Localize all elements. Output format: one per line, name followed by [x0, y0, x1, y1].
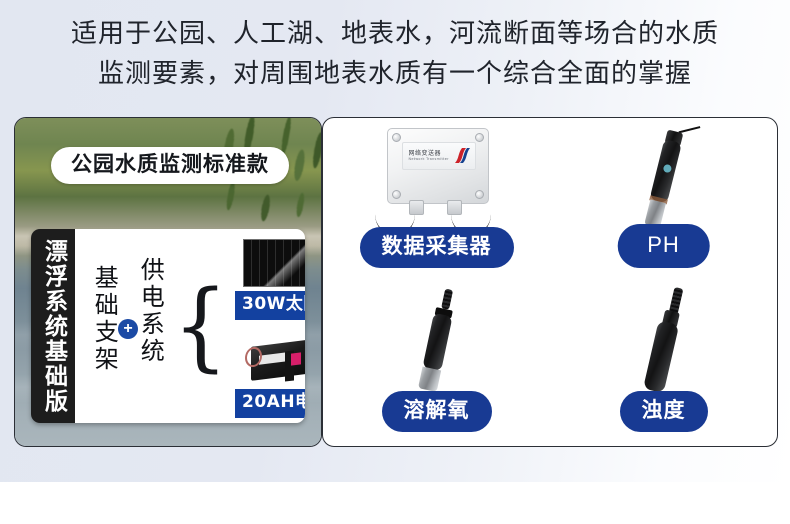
- device-grid: 网络变送器 Network Transmitter: [323, 118, 777, 446]
- curly-brace-icon: {: [173, 251, 228, 401]
- base-bracket-label: 基础支架: [91, 265, 116, 373]
- device-cell-data-collector: 网络变送器 Network Transmitter: [323, 118, 550, 282]
- ph-sensor-art: [550, 122, 777, 230]
- data-collector-art: 网络变送器 Network Transmitter: [323, 122, 550, 230]
- device-cell-dissolved-oxygen: 溶解氧: [323, 282, 550, 446]
- dissolved-oxygen-probe-icon: [396, 281, 478, 403]
- dissolved-oxygen-label[interactable]: 溶解氧: [382, 391, 492, 432]
- brand-wave-logo-icon: [452, 146, 472, 166]
- screw-icon: [392, 190, 401, 199]
- content-panels: 公园水质监测标准款 漂浮系统基础版 基础支架 + 供电系统 { 30W太阳能: [14, 117, 776, 445]
- right-panel-devices: 网络变送器 Network Transmitter: [322, 117, 778, 447]
- promo-page: 适用于公园、人工湖、地表水，河流断面等场合的水质 监测要素，对周围地表水质有一个…: [0, 0, 790, 524]
- solar-panel-tag: 30W太阳能: [235, 291, 305, 320]
- network-transmitter-icon: 网络变送器 Network Transmitter: [383, 128, 491, 232]
- battery-tag: 20AH电池: [235, 389, 305, 418]
- ph-probe-icon: [621, 116, 706, 239]
- battery-connector: [291, 352, 301, 365]
- left-panel-floating-system: 公园水质监测标准款 漂浮系统基础版 基础支架 + 供电系统 { 30W太阳能: [14, 117, 322, 447]
- composition-body: 基础支架 + 供电系统 { 30W太阳能 20AH电池: [75, 229, 305, 423]
- solar-panel-image: [243, 239, 305, 287]
- device-cell-ph-sensor: PH: [550, 118, 777, 282]
- transmitter-nameplate: 网络变送器 Network Transmitter: [402, 142, 476, 170]
- headline-line-2: 监测要素，对周围地表水质有一个综合全面的掌握: [0, 54, 790, 94]
- device-cell-turbidity: 浊度: [550, 282, 777, 446]
- left-panel-title-pill: 公园水质监测标准款: [51, 147, 289, 184]
- ph-sensor-label[interactable]: PH: [617, 224, 710, 268]
- dissolved-oxygen-art: [323, 286, 550, 394]
- plus-icon: +: [118, 319, 138, 339]
- probe-threaded-neck: [441, 289, 453, 310]
- turbidity-art: [550, 286, 777, 394]
- turbidity-probe-icon: [622, 281, 706, 404]
- screw-icon: [475, 133, 484, 142]
- screw-icon: [475, 190, 484, 199]
- transmitter-enclosure: 网络变送器 Network Transmitter: [387, 128, 489, 204]
- nameplate-subtitle: Network Transmitter: [409, 157, 449, 161]
- page-title: 适用于公园、人工湖、地表水，河流断面等场合的水质 监测要素，对周围地表水质有一个…: [0, 14, 790, 94]
- probe-shaft: [422, 313, 452, 372]
- screw-icon: [392, 133, 401, 142]
- system-composition-card: 漂浮系统基础版 基础支架 + 供电系统 { 30W太阳能: [31, 229, 305, 423]
- turbidity-label[interactable]: 浊度: [620, 391, 708, 432]
- battery-image: [241, 337, 305, 383]
- probe-tip: [418, 367, 441, 392]
- headline-line-1: 适用于公园、人工湖、地表水，河流断面等场合的水质: [0, 14, 790, 54]
- probe-body: [643, 320, 679, 393]
- nameplate-title: 网络变送器: [409, 148, 442, 157]
- floating-system-vertical-tag: 漂浮系统基础版: [31, 229, 75, 423]
- data-collector-label[interactable]: 数据采集器: [360, 227, 514, 268]
- power-system-label: 供电系统: [137, 257, 162, 365]
